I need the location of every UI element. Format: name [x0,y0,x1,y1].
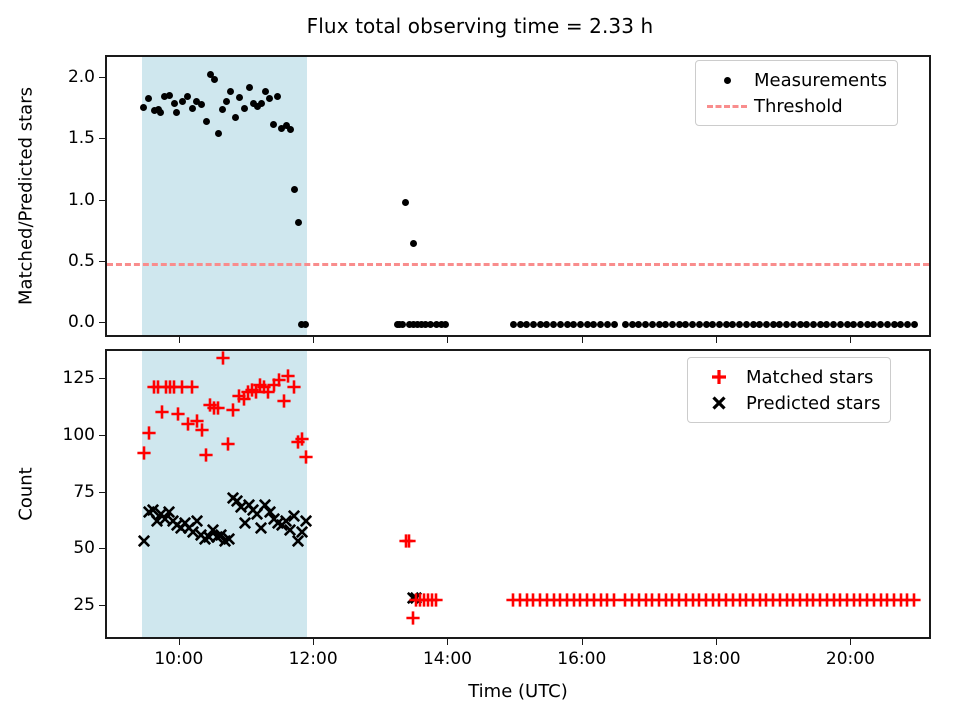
dot-marker-icon [704,77,750,84]
measurement-point [227,88,234,95]
measurement-point [696,321,703,328]
x-tick [716,639,717,645]
measurement-point [166,92,173,99]
legend-entry-measurements: Measurements [704,67,887,93]
y-tick [99,77,105,78]
x-tick [313,639,314,645]
measurement-point [258,100,265,107]
measurement-point [622,321,629,328]
measurement-point [611,321,618,328]
measurement-point [837,321,844,328]
measurement-point [790,321,797,328]
measurement-point [857,321,864,328]
x-tick [179,639,180,645]
measurement-point [287,126,294,133]
x-ticklabel: 10:00 [154,649,203,669]
y-ticklabel: 1.0 [68,190,95,210]
measurement-point [763,321,770,328]
y-ticklabel: 100 [63,425,95,445]
cross-marker-icon [696,394,742,412]
x-tick [447,639,448,645]
y-ticklabel: 2.0 [68,67,95,87]
measurement-point [262,88,269,95]
y-ticklabel: 125 [63,368,95,388]
measurement-point [410,240,417,247]
measurement-point [189,105,196,112]
measurement-point [291,186,298,193]
measurement-point [246,84,253,91]
measurement-point [215,130,222,137]
measurement-point [557,321,564,328]
measurement-point [173,109,180,116]
bottom-panel-legend: Matched stars Predicted stars [687,357,891,423]
legend-label-threshold: Threshold [750,96,843,117]
y-tick [99,378,105,379]
measurement-point [270,121,277,128]
x-tick [850,639,851,645]
y-tick [99,138,105,139]
x-ticklabel: 16:00 [557,649,606,669]
measurement-point [402,199,409,206]
measurement-point [577,321,584,328]
threshold-line [107,263,929,266]
measurement-point [530,321,537,328]
measurement-point [904,321,911,328]
measurement-point [743,321,750,328]
plus-marker-icon [696,368,742,386]
measurement-point [184,93,191,100]
measurement-point [810,321,817,328]
legend-label-matched-stars: Matched stars [742,367,873,388]
x-tick [447,337,448,343]
y-tick [99,435,105,436]
dashed-line-icon [704,105,750,108]
measurement-point [274,93,281,100]
y-tick [99,548,105,549]
measurement-point [223,98,230,105]
measurement-point [211,76,218,83]
x-ticklabel: 14:00 [423,649,472,669]
x-tick [582,639,583,645]
x-tick [179,337,180,343]
y-ticklabel: 0.5 [68,251,95,271]
x-tick [313,337,314,343]
y-ticklabel: 1.5 [68,128,95,148]
measurement-point [171,100,178,107]
y-ticklabel: 0.0 [68,312,95,332]
y-ticklabel: 50 [73,538,95,558]
measurement-point [649,321,656,328]
measurement-point [302,321,309,328]
measurement-point [604,321,611,328]
measurement-point [157,109,164,116]
legend-entry-matched-stars: Matched stars [696,364,880,390]
legend-entry-predicted-stars: Predicted stars [696,390,880,416]
figure-canvas: Flux total observing time = 2.33 h 0.00.… [0,0,960,720]
x-ticklabel: 18:00 [692,649,741,669]
x-tick [850,337,851,343]
measurement-point [232,114,239,121]
y-tick [99,322,105,323]
x-tick [716,337,717,343]
measurement-point [669,321,676,328]
measurement-point [911,321,918,328]
y-tick [99,261,105,262]
y-ticklabel: 75 [73,482,95,502]
x-ticklabel: 20:00 [826,649,875,669]
top-panel-legend: Measurements Threshold [695,60,898,126]
x-tick [582,337,583,343]
legend-label-predicted-stars: Predicted stars [742,393,880,414]
figure-title: Flux total observing time = 2.33 h [0,14,960,38]
y-tick [99,605,105,606]
measurement-point [716,321,723,328]
measurement-point [510,321,517,328]
top-panel-y-axis-label: Matched/Predicted stars [16,87,37,305]
measurement-point [399,321,406,328]
y-ticklabel: 25 [73,595,95,615]
legend-label-measurements: Measurements [750,70,887,91]
x-axis-label: Time (UTC) [468,681,568,702]
measurement-point [295,219,302,226]
legend-entry-threshold: Threshold [704,93,887,119]
bottom-panel-y-axis-label: Count [16,467,37,520]
x-ticklabel: 12:00 [289,649,338,669]
measurement-point [442,321,449,328]
y-tick [99,200,105,201]
measurement-point [884,321,891,328]
y-tick [99,492,105,493]
